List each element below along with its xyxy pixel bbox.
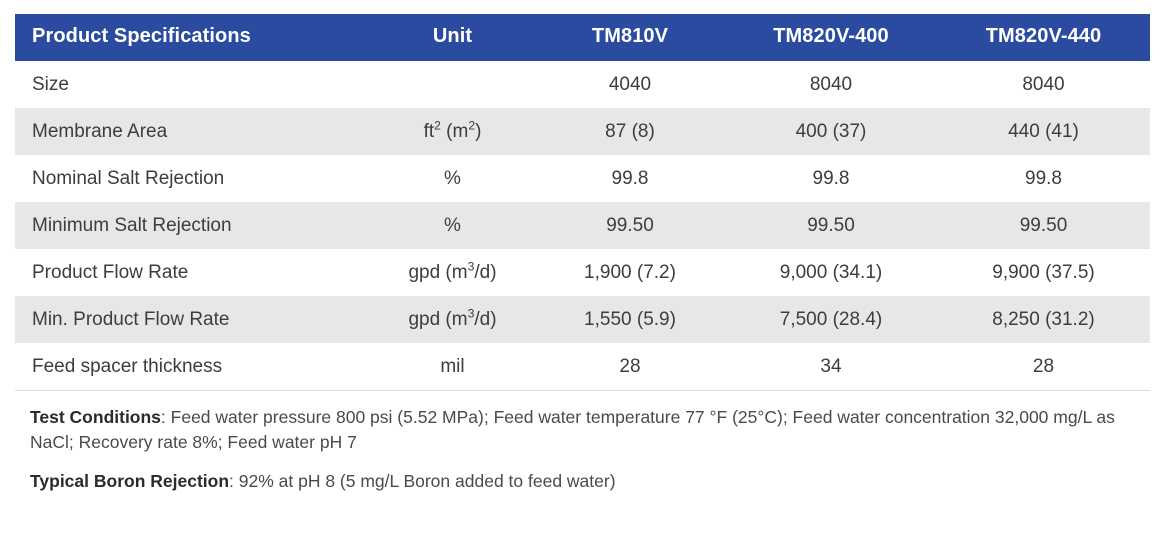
table-row: Minimum Salt Rejection%99.5099.5099.50 [15, 202, 1150, 249]
table-row: Nominal Salt Rejection%99.899.899.8 [15, 155, 1150, 202]
column-header-unit: Unit [370, 14, 535, 61]
cell-unit: gpd (m3/d) [370, 296, 535, 343]
cell-unit: % [370, 155, 535, 202]
table-row: Min. Product Flow Rategpd (m3/d)1,550 (5… [15, 296, 1150, 343]
note-label-test-conditions: Test Conditions [30, 407, 161, 427]
cell-unit: mil [370, 343, 535, 391]
cell-value-2: 99.8 [725, 155, 937, 202]
cell-value-3: 99.50 [937, 202, 1150, 249]
table-body: Size404080408040Membrane Areaft2 (m2)87 … [15, 61, 1150, 391]
cell-unit: ft2 (m2) [370, 108, 535, 155]
cell-unit: gpd (m3/d) [370, 249, 535, 296]
spec-sheet: Product Specifications Unit TM810V TM820… [0, 0, 1165, 545]
cell-value-3: 99.8 [937, 155, 1150, 202]
table-row: Membrane Areaft2 (m2)87 (8)400 (37)440 (… [15, 108, 1150, 155]
cell-spec-name: Feed spacer thickness [15, 343, 370, 391]
note-text-typical-boron-rejection: : 92% at pH 8 (5 mg/L Boron added to fee… [229, 471, 616, 491]
cell-value-3: 9,900 (37.5) [937, 249, 1150, 296]
note-text-test-conditions: : Feed water pressure 800 psi (5.52 MPa)… [30, 407, 1115, 452]
cell-value-1: 99.50 [535, 202, 725, 249]
cell-spec-name: Min. Product Flow Rate [15, 296, 370, 343]
cell-value-2: 400 (37) [725, 108, 937, 155]
table-row: Product Flow Rategpd (m3/d)1,900 (7.2)9,… [15, 249, 1150, 296]
column-header-product-specifications: Product Specifications [15, 14, 370, 61]
table-row: Size404080408040 [15, 61, 1150, 108]
cell-value-1: 1,900 (7.2) [535, 249, 725, 296]
cell-value-2: 7,500 (28.4) [725, 296, 937, 343]
cell-value-3: 28 [937, 343, 1150, 391]
cell-value-2: 9,000 (34.1) [725, 249, 937, 296]
table-header: Product Specifications Unit TM810V TM820… [15, 14, 1150, 61]
cell-spec-name: Membrane Area [15, 108, 370, 155]
cell-value-2: 99.50 [725, 202, 937, 249]
cell-value-1: 87 (8) [535, 108, 725, 155]
column-header-tm810v: TM810V [535, 14, 725, 61]
cell-value-1: 4040 [535, 61, 725, 108]
cell-spec-name: Nominal Salt Rejection [15, 155, 370, 202]
cell-value-2: 8040 [725, 61, 937, 108]
cell-spec-name: Product Flow Rate [15, 249, 370, 296]
cell-spec-name: Size [15, 61, 370, 108]
note-label-typical-boron-rejection: Typical Boron Rejection [30, 471, 229, 491]
cell-value-3: 440 (41) [937, 108, 1150, 155]
header-row: Product Specifications Unit TM810V TM820… [15, 14, 1150, 61]
note-test-conditions: Test Conditions: Feed water pressure 800… [30, 405, 1158, 455]
cell-value-2: 34 [725, 343, 937, 391]
cell-value-3: 8040 [937, 61, 1150, 108]
note-typical-boron-rejection: Typical Boron Rejection: 92% at pH 8 (5 … [30, 469, 1158, 494]
product-specifications-table: Product Specifications Unit TM810V TM820… [15, 14, 1150, 391]
column-header-tm820v-400: TM820V-400 [725, 14, 937, 61]
cell-value-1: 28 [535, 343, 725, 391]
cell-spec-name: Minimum Salt Rejection [15, 202, 370, 249]
cell-unit [370, 61, 535, 108]
footnotes: Test Conditions: Feed water pressure 800… [15, 391, 1165, 494]
cell-value-1: 1,550 (5.9) [535, 296, 725, 343]
table-row: Feed spacer thicknessmil283428 [15, 343, 1150, 391]
cell-value-3: 8,250 (31.2) [937, 296, 1150, 343]
cell-value-1: 99.8 [535, 155, 725, 202]
cell-unit: % [370, 202, 535, 249]
column-header-tm820v-440: TM820V-440 [937, 14, 1150, 61]
